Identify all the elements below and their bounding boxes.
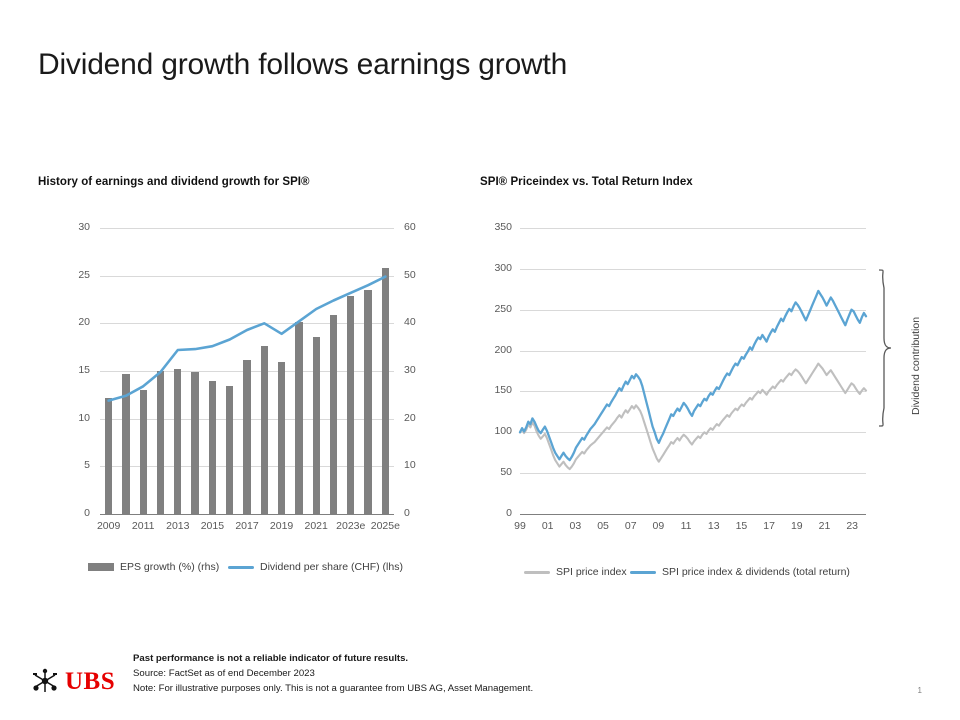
y-axis-tick-right: 50 [404, 269, 416, 281]
y-axis-tick: 350 [478, 221, 512, 233]
ubs-logo: UBS [30, 668, 115, 694]
legend-swatch-line-blue [228, 566, 254, 569]
page-title: Dividend growth follows earnings growth [38, 48, 567, 82]
y-axis-tick-left: 25 [38, 269, 90, 281]
y-axis-tick: 0 [478, 507, 512, 519]
legend-swatch-line-grey [524, 571, 550, 574]
dividend-contribution-brace [877, 268, 893, 428]
price-vs-total-return-chart: 0501001502002503003509901030507091113151… [478, 218, 878, 536]
x-axis-tick: 2025e [368, 520, 403, 532]
right-chart-title: SPI® Priceindex vs. Total Return Index [480, 176, 693, 188]
x-axis-tick: 2015 [195, 520, 230, 532]
right-chart-plot-area [520, 228, 866, 514]
left-chart-plot-area [100, 228, 394, 514]
y-axis-tick-right: 0 [404, 507, 410, 519]
y-axis-tick-left: 0 [38, 507, 90, 519]
slide-canvas: Dividend growth follows earnings growth … [0, 0, 960, 720]
legend-spi-total-return: SPI price index & dividends (total retur… [630, 566, 850, 578]
legend-label-eps-growth: EPS growth (%) (rhs) [120, 561, 219, 573]
brace-icon [877, 268, 893, 428]
legend-label-dividend-per-share: Dividend per share (CHF) (lhs) [260, 561, 403, 573]
legend-swatch-line-blue-2 [630, 571, 656, 574]
footer-source-line: Source: FactSet as of end December 2023 [133, 668, 315, 679]
gridline [520, 514, 866, 515]
gridline [100, 514, 394, 515]
index-line-series [520, 228, 866, 514]
footer-note-line: Note: For illustrative purposes only. Th… [133, 683, 533, 694]
y-axis-tick: 150 [478, 384, 512, 396]
y-axis-tick-left: 15 [38, 364, 90, 376]
ubs-keys-icon [30, 668, 60, 694]
x-axis-tick: 2017 [230, 520, 265, 532]
y-axis-tick-left: 5 [38, 459, 90, 471]
left-chart-title: History of earnings and dividend growth … [38, 176, 310, 188]
y-axis-tick-right: 30 [404, 364, 416, 376]
legend-eps-growth: EPS growth (%) (rhs) [88, 561, 219, 573]
x-axis-tick: 2011 [126, 520, 161, 532]
y-axis-tick: 100 [478, 425, 512, 437]
y-axis-tick-left: 10 [38, 412, 90, 424]
y-axis-tick-right: 60 [404, 221, 416, 233]
x-axis-tick: 2013 [161, 520, 196, 532]
y-axis-tick: 200 [478, 344, 512, 356]
y-axis-tick: 50 [478, 466, 512, 478]
dividend-line-series [100, 228, 394, 514]
y-axis-tick: 250 [478, 303, 512, 315]
x-axis-tick: 23 [832, 520, 872, 532]
ubs-wordmark: UBS [65, 669, 115, 694]
y-axis-tick-right: 20 [404, 412, 416, 424]
x-axis-tick: 2009 [91, 520, 126, 532]
legend-spi-price-index: SPI price index [524, 566, 627, 578]
x-axis-tick: 2023e [333, 520, 368, 532]
y-axis-tick: 300 [478, 262, 512, 274]
y-axis-tick-right: 40 [404, 316, 416, 328]
legend-label-spi-total-return: SPI price index & dividends (total retur… [662, 566, 850, 578]
footer-disclaimer-line1: Past performance is not a reliable indic… [133, 653, 408, 664]
dividend-contribution-label: Dividend contribution [910, 317, 922, 415]
page-number: 1 [918, 686, 922, 695]
x-axis-tick: 2021 [299, 520, 334, 532]
y-axis-tick-right: 10 [404, 459, 416, 471]
y-axis-tick-left: 30 [38, 221, 90, 233]
y-axis-tick-left: 20 [38, 316, 90, 328]
x-axis-tick: 2019 [264, 520, 299, 532]
legend-swatch-bar [88, 563, 114, 571]
legend-label-spi-price-index: SPI price index [556, 566, 627, 578]
earnings-dividend-chart: 0510152025300102030405060200920112013201… [38, 218, 438, 536]
legend-dividend-per-share: Dividend per share (CHF) (lhs) [228, 561, 403, 573]
